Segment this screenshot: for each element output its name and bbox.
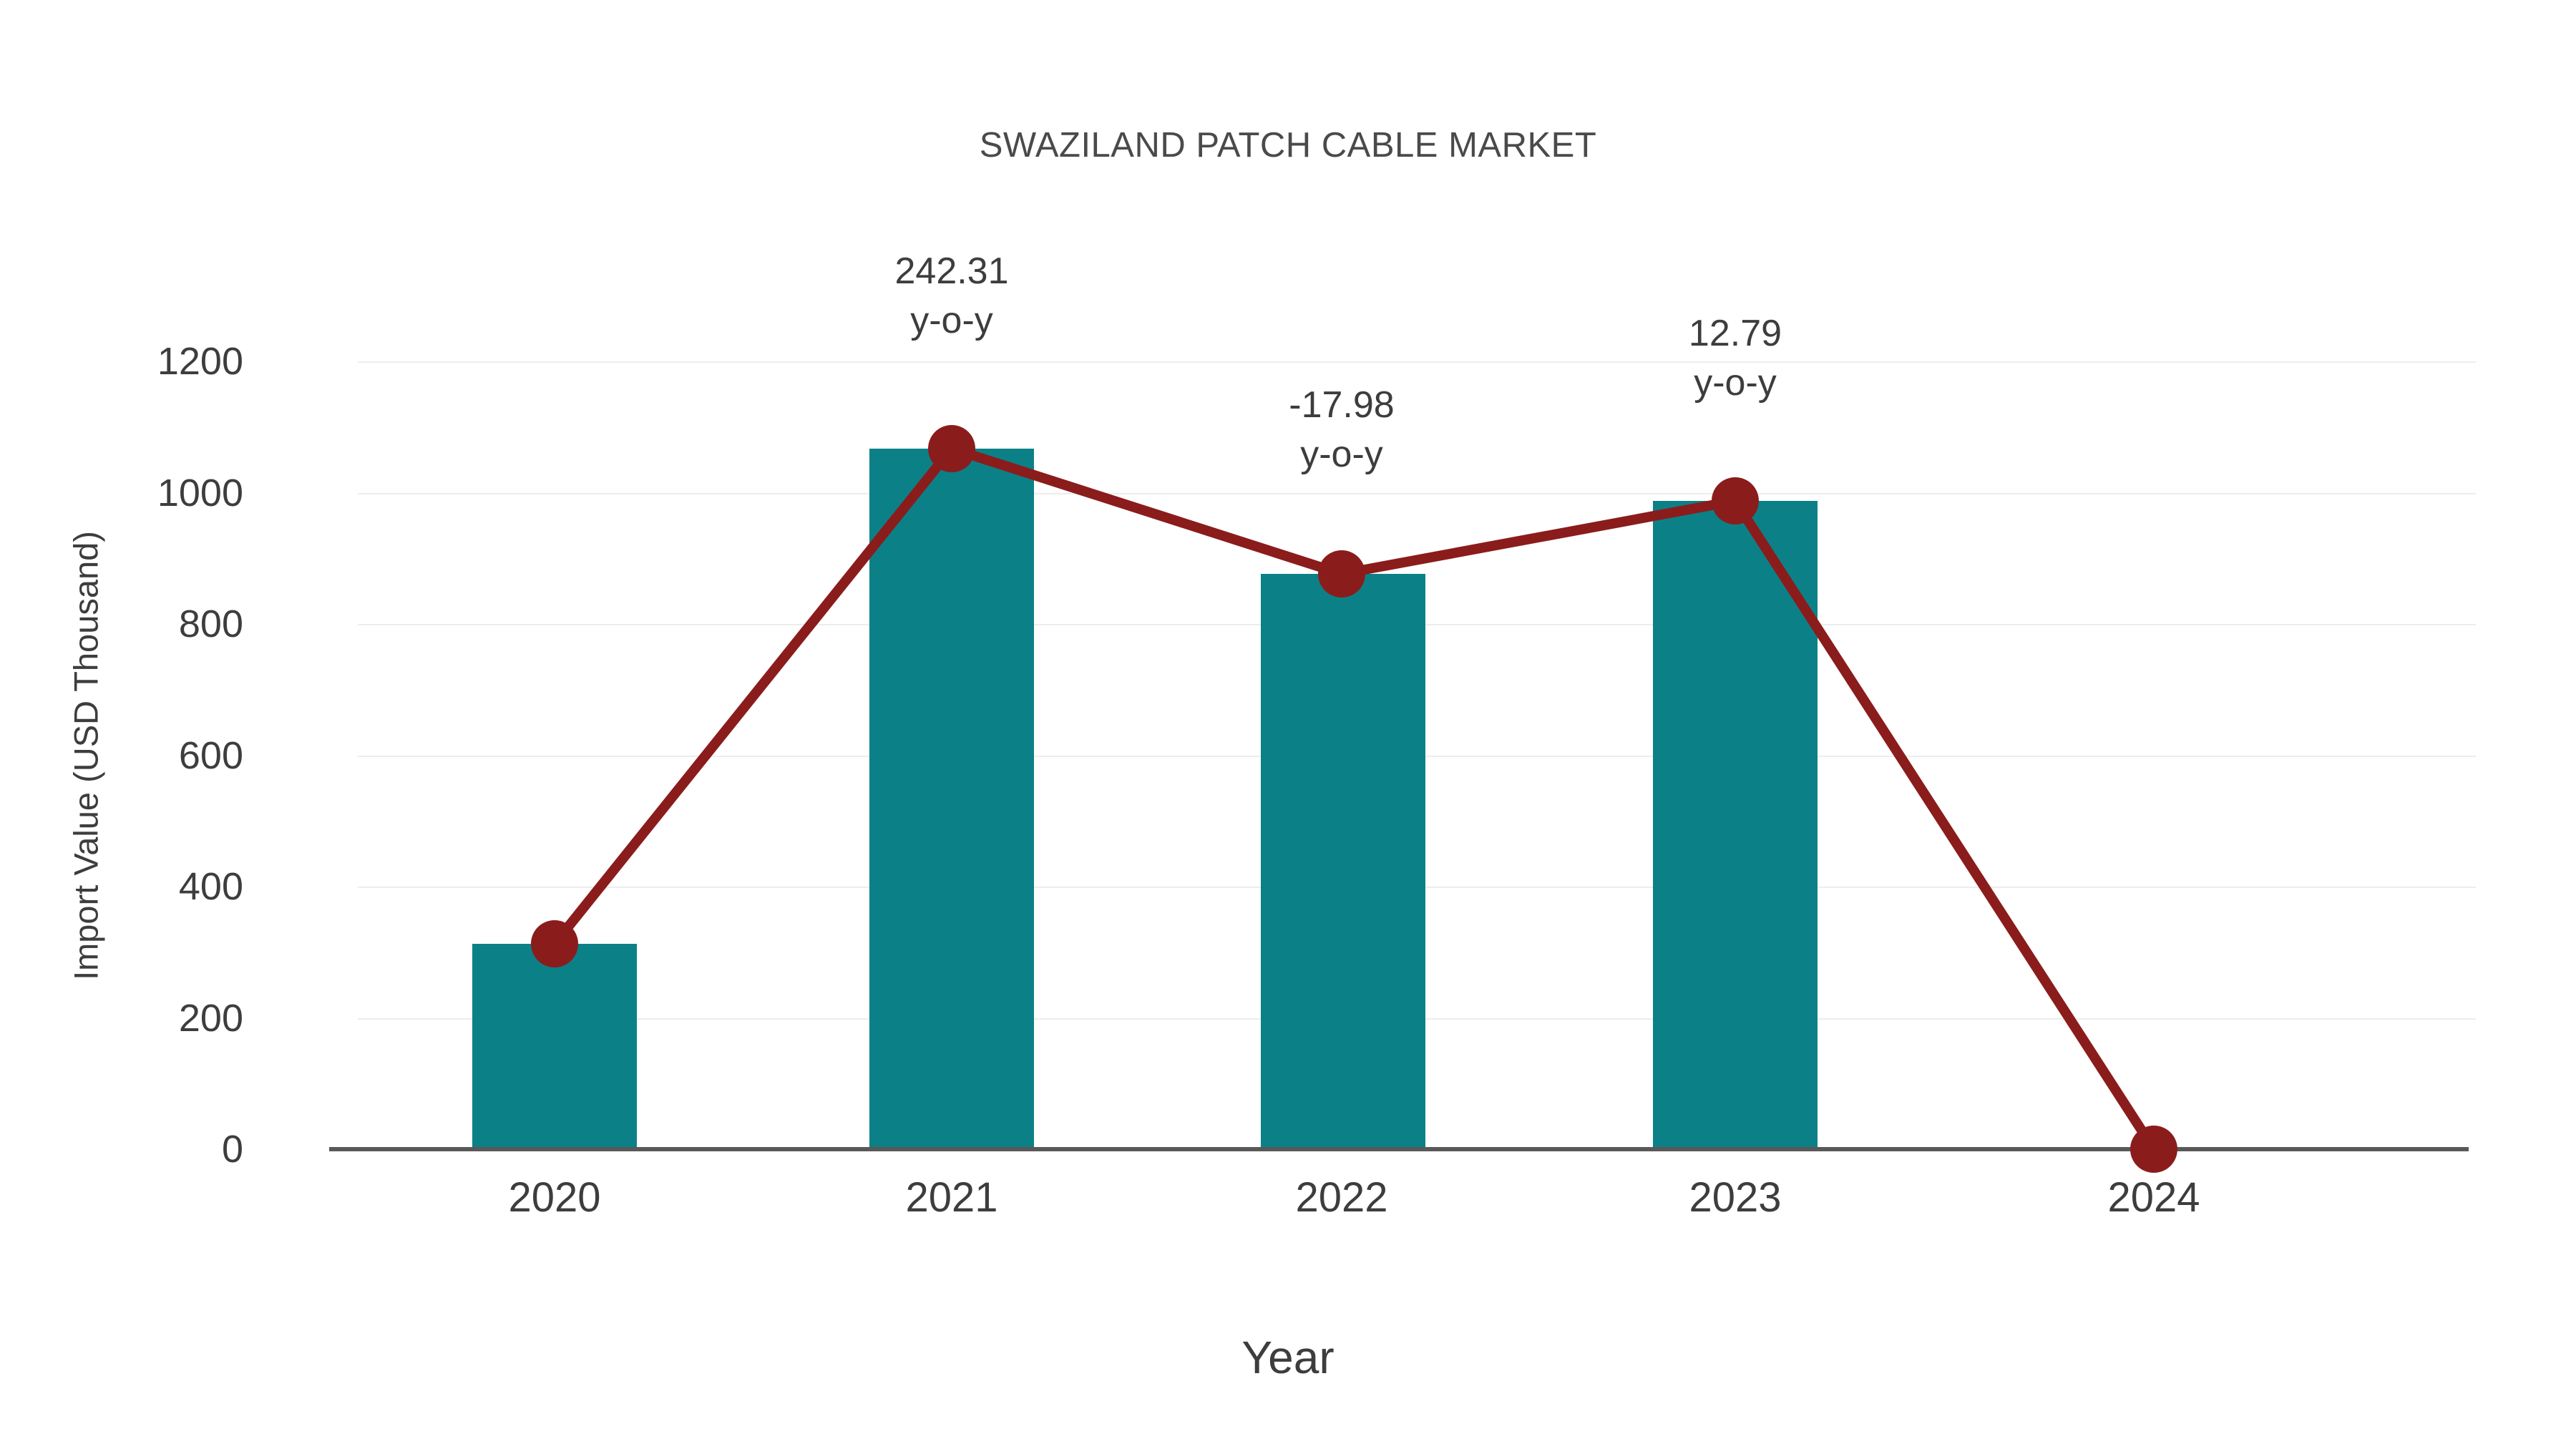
- x-tick-label-2024: 2024: [2107, 1174, 2200, 1221]
- bar-2023[interactable]: [1653, 501, 1818, 1149]
- y-tick-label-200: 200: [14, 996, 243, 1040]
- gridline-1200: [358, 361, 2476, 363]
- data-label-2023: 12.79 y-o-y: [1689, 309, 1782, 407]
- x-tick-label-2023: 2023: [1689, 1174, 1781, 1221]
- bar-2021[interactable]: [869, 449, 1034, 1149]
- data-label-2022-value: -17.98: [1289, 381, 1394, 430]
- y-tick-label-600: 600: [14, 733, 243, 778]
- data-label-2022-suffix: y-o-y: [1289, 430, 1394, 479]
- data-label-2022: -17.98 y-o-y: [1289, 381, 1394, 479]
- data-label-2021: 242.31 y-o-y: [894, 247, 1008, 345]
- gridline-1000: [358, 493, 2476, 494]
- data-label-2023-suffix: y-o-y: [1689, 358, 1782, 408]
- data-label-2021-value: 242.31: [894, 247, 1008, 296]
- chart-container: SWAZILAND PATCH CABLE MARKET Import Valu…: [0, 0, 2576, 1449]
- x-axis-line: [329, 1147, 2469, 1151]
- x-tick-label-2020: 2020: [508, 1174, 600, 1221]
- x-tick-label-2021: 2021: [905, 1174, 997, 1221]
- y-tick-label-800: 800: [14, 602, 243, 646]
- plot-area: Import Value (USD Thousand) 1200 1000 80…: [358, 361, 2476, 1149]
- y-tick-label-1200: 1200: [14, 339, 243, 384]
- bar-2020[interactable]: [472, 944, 637, 1149]
- bar-2022[interactable]: [1261, 574, 1425, 1149]
- x-axis-title: Year: [0, 1331, 2576, 1384]
- y-tick-label-0: 0: [14, 1127, 243, 1171]
- data-label-2021-suffix: y-o-y: [894, 296, 1008, 346]
- data-label-2023-value: 12.79: [1689, 309, 1782, 358]
- x-tick-label-2022: 2022: [1295, 1174, 1387, 1221]
- chart-title: SWAZILAND PATCH CABLE MARKET: [0, 125, 2576, 165]
- y-tick-label-400: 400: [14, 864, 243, 909]
- y-tick-label-1000: 1000: [14, 471, 243, 515]
